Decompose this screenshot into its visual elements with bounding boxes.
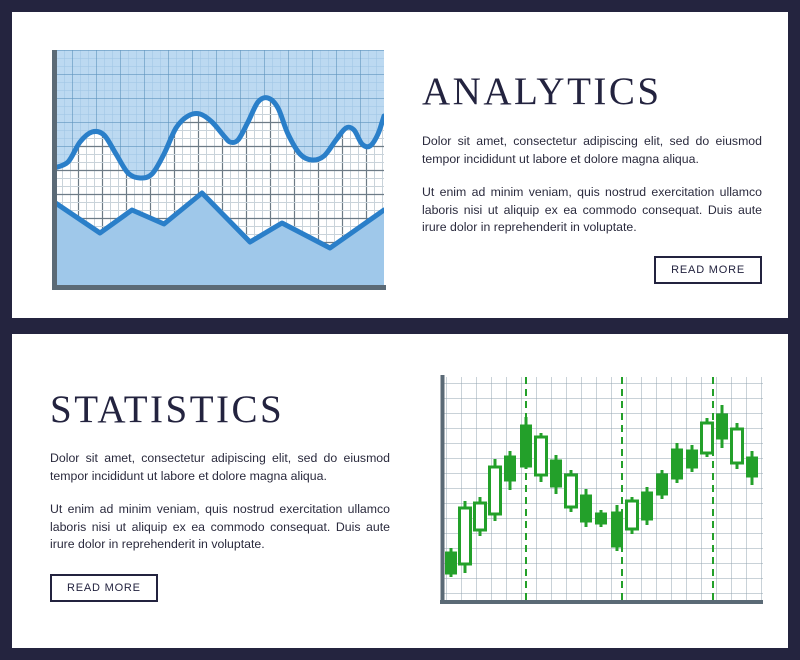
panel-divider bbox=[0, 318, 800, 334]
area-chart-svg bbox=[48, 50, 390, 292]
candlestick bbox=[612, 505, 623, 551]
candlestick bbox=[460, 501, 471, 573]
page-title-analytics: ANALYTICS bbox=[422, 72, 762, 111]
statistics-text-column: STATISTICS Dolor sit amet, consectetur a… bbox=[50, 390, 390, 602]
analytics-paragraph-1: Dolor sit amet, consectetur adipiscing e… bbox=[422, 133, 762, 168]
candlestick bbox=[596, 510, 607, 527]
candlestick bbox=[490, 459, 501, 521]
statistics-paragraph-2: Ut enim ad minim veniam, quis nostrud ex… bbox=[50, 501, 390, 554]
candlestick bbox=[521, 417, 532, 469]
candlestick bbox=[672, 443, 683, 483]
analytics-panel: ANALYTICS Dolor sit amet, consectetur ad… bbox=[12, 12, 788, 318]
candlestick bbox=[627, 497, 638, 534]
analytics-text-column: ANALYTICS Dolor sit amet, consectetur ad… bbox=[422, 72, 762, 284]
statistics-panel: STATISTICS Dolor sit amet, consectetur a… bbox=[12, 334, 788, 648]
candlestick bbox=[702, 418, 713, 457]
candlestick bbox=[446, 548, 457, 577]
candlestick bbox=[732, 423, 743, 469]
candlestick bbox=[642, 487, 653, 525]
candlestick bbox=[657, 470, 668, 499]
read-more-button-statistics[interactable]: READ MORE bbox=[50, 574, 158, 602]
statistics-paragraph-1: Dolor sit amet, consectetur adipiscing e… bbox=[50, 450, 390, 485]
statistics-button-row: READ MORE bbox=[50, 574, 390, 602]
candlestick bbox=[566, 470, 577, 512]
candlestick bbox=[475, 497, 486, 536]
analytics-paragraph-2: Ut enim ad minim veniam, quis nostrud ex… bbox=[422, 184, 762, 237]
statistics-candlestick-chart bbox=[416, 368, 764, 614]
candlestick-chart-svg bbox=[416, 368, 764, 614]
poster-frame: ANALYTICS Dolor sit amet, consectetur ad… bbox=[0, 0, 800, 660]
read-more-button-analytics[interactable]: READ MORE bbox=[654, 256, 762, 284]
page-title-statistics: STATISTICS bbox=[50, 390, 390, 429]
analytics-area-chart bbox=[48, 50, 390, 292]
analytics-button-row: READ MORE bbox=[422, 256, 762, 284]
candlestick bbox=[581, 489, 592, 527]
candlestick bbox=[536, 433, 547, 482]
